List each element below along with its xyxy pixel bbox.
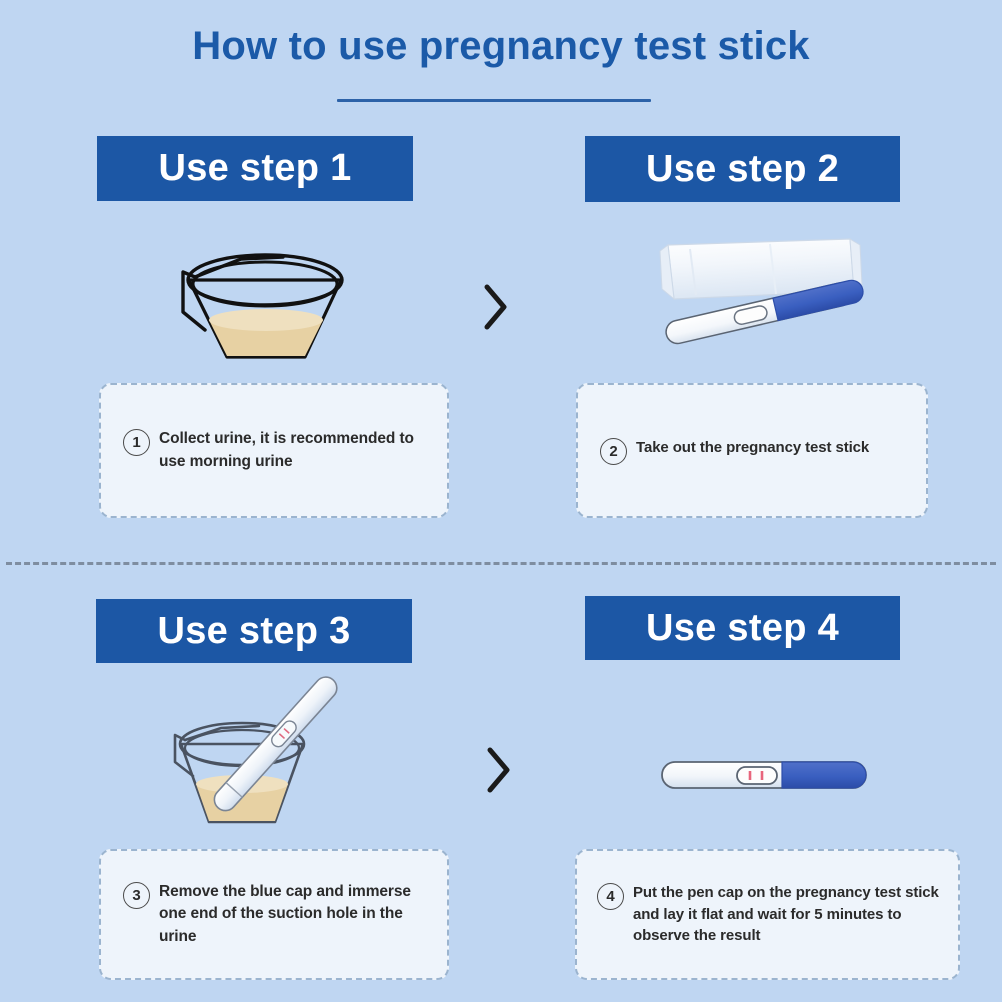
row-divider	[6, 562, 996, 565]
step-header-2: Use step 2	[585, 136, 900, 202]
step-badge-3: 3	[123, 882, 150, 909]
urine-cup-illustration	[165, 232, 360, 367]
infographic-page: How to use pregnancy test stick Use step…	[0, 0, 1002, 1002]
step-header-1: Use step 1	[97, 136, 413, 201]
chevron-right-icon-1	[478, 281, 512, 338]
step-caption-box-3: 3 Remove the blue cap and immerse one en…	[99, 849, 449, 980]
step-caption-box-4: 4 Put the pen cap on the pregnancy test …	[575, 849, 960, 980]
step-caption-text-4: Put the pen cap on the pregnancy test st…	[633, 882, 944, 947]
step-header-3: Use step 3	[96, 599, 412, 663]
stick-dipped-in-cup-illustration	[163, 662, 398, 837]
step-header-3-label: Use step 3	[157, 610, 350, 653]
step-caption-box-1: 1 Collect urine, it is recommended to us…	[99, 383, 449, 518]
page-title: How to use pregnancy test stick	[0, 24, 1002, 69]
step-header-4-label: Use step 4	[646, 607, 839, 650]
step-caption-text-3: Remove the blue cap and immerse one end …	[159, 881, 433, 948]
packaged-test-stick-illustration	[650, 233, 875, 356]
step-header-4: Use step 4	[585, 596, 900, 660]
step-badge-4: 4	[597, 883, 624, 910]
step-badge-1: 1	[123, 429, 150, 456]
step-header-1-label: Use step 1	[158, 147, 351, 190]
step-header-2-label: Use step 2	[646, 148, 839, 191]
title-underline	[337, 99, 651, 102]
test-stick-result-illustration	[652, 748, 877, 813]
step-caption-box-2: 2 Take out the pregnancy test stick	[576, 383, 928, 518]
step-badge-2: 2	[600, 438, 627, 465]
chevron-right-icon-2	[481, 744, 515, 801]
step-caption-text-2: Take out the pregnancy test stick	[636, 437, 869, 459]
step-caption-text-1: Collect urine, it is recommended to use …	[159, 428, 433, 473]
